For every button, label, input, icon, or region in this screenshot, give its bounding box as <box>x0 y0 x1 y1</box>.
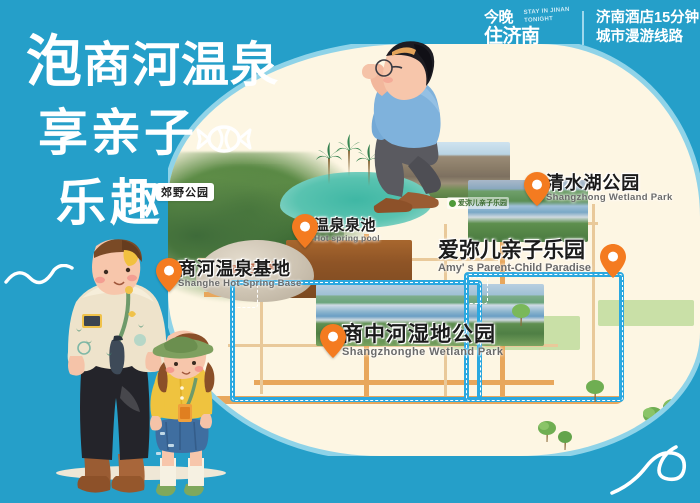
squiggle-icon <box>4 264 74 290</box>
map-pin-icon[interactable] <box>524 172 550 206</box>
tree-icon <box>554 424 576 450</box>
poi-name-cn: 爱弥儿亲子乐园 <box>438 240 591 262</box>
headline-line-1-accent: 泡 <box>26 30 83 93</box>
poi-name-en: Shanghe Hot Spring Base <box>178 279 302 289</box>
poi-name-en: Hot spring pool <box>314 234 380 243</box>
poi-label: 商中河湿地公园 Shangzhonghe Wetland Park <box>342 324 503 358</box>
poi-name-cn: 商中河湿地公园 <box>342 324 503 346</box>
brand-subtitle-line2: 城市漫游线路 <box>596 28 699 47</box>
poi-name-cn: 清水湖公园 <box>546 174 673 193</box>
map-pin-icon[interactable] <box>320 324 346 358</box>
poi-label: 商河温泉基地 Shanghe Hot Spring Base <box>178 260 302 289</box>
curl-doodle-icon <box>610 411 696 497</box>
squatting-man-illustration <box>322 36 470 216</box>
poi-name-en: Shangzhonghe Wetland Park <box>342 346 503 358</box>
headline-block: 泡商河温泉 享亲子 乐趣 <box>26 34 326 228</box>
poi-name-en: Amy' s Parent-Child Paradise <box>438 262 591 274</box>
headline-line-1: 泡商河温泉 <box>26 34 326 90</box>
poi-shanghe-hot-spring-base[interactable]: 商河温泉基地 Shanghe Hot Spring Base <box>156 258 302 292</box>
poi-amys-parent-child-paradise[interactable]: 爱弥儿亲子乐园 Amy' s Parent-Child Paradise <box>438 240 591 274</box>
headline-line-3: 乐趣 <box>56 178 326 228</box>
brand-divider <box>582 11 584 45</box>
tree-icon <box>510 300 532 326</box>
poi-shangzhong-wetland-park[interactable]: 清水湖公园 Shangzhong Wetland Park <box>524 172 673 206</box>
poi-name-cn: 商河温泉基地 <box>178 260 302 279</box>
poster-canvas: 商河温泉 <box>0 0 700 503</box>
brand-subtitle: 济南酒店15分钟 城市漫游线路 <box>596 9 699 46</box>
headline-line-2: 享亲子 <box>38 108 326 158</box>
brand-cn-bottom: 住济南 <box>484 27 540 46</box>
brand-subtitle-line1: 济南酒店15分钟 <box>596 9 699 28</box>
map-pin-icon[interactable] <box>600 244 626 278</box>
headline-line-1-rest: 商河温泉 <box>83 39 279 92</box>
brand-header: 今晚 STAY IN JINAN TONIGHT 住济南 济南酒店15分钟 城市… <box>484 8 699 48</box>
candy-icon <box>196 122 252 156</box>
poi-name-en: Shangzhong Wetland Park <box>546 193 673 203</box>
poi-shangzhonghe-wetland-park[interactable]: 商中河湿地公园 Shangzhonghe Wetland Park <box>320 324 503 358</box>
brand-cn-top: 今晚 <box>484 10 513 25</box>
brand-en-tagline: STAY IN JINAN TONIGHT <box>523 7 574 26</box>
brand-logo: 今晚 STAY IN JINAN TONIGHT 住济南 <box>484 8 570 48</box>
tree-icon <box>584 376 606 402</box>
poi-label: 清水湖公园 Shangzhong Wetland Park <box>546 174 673 203</box>
map-pin-icon[interactable] <box>156 258 182 292</box>
